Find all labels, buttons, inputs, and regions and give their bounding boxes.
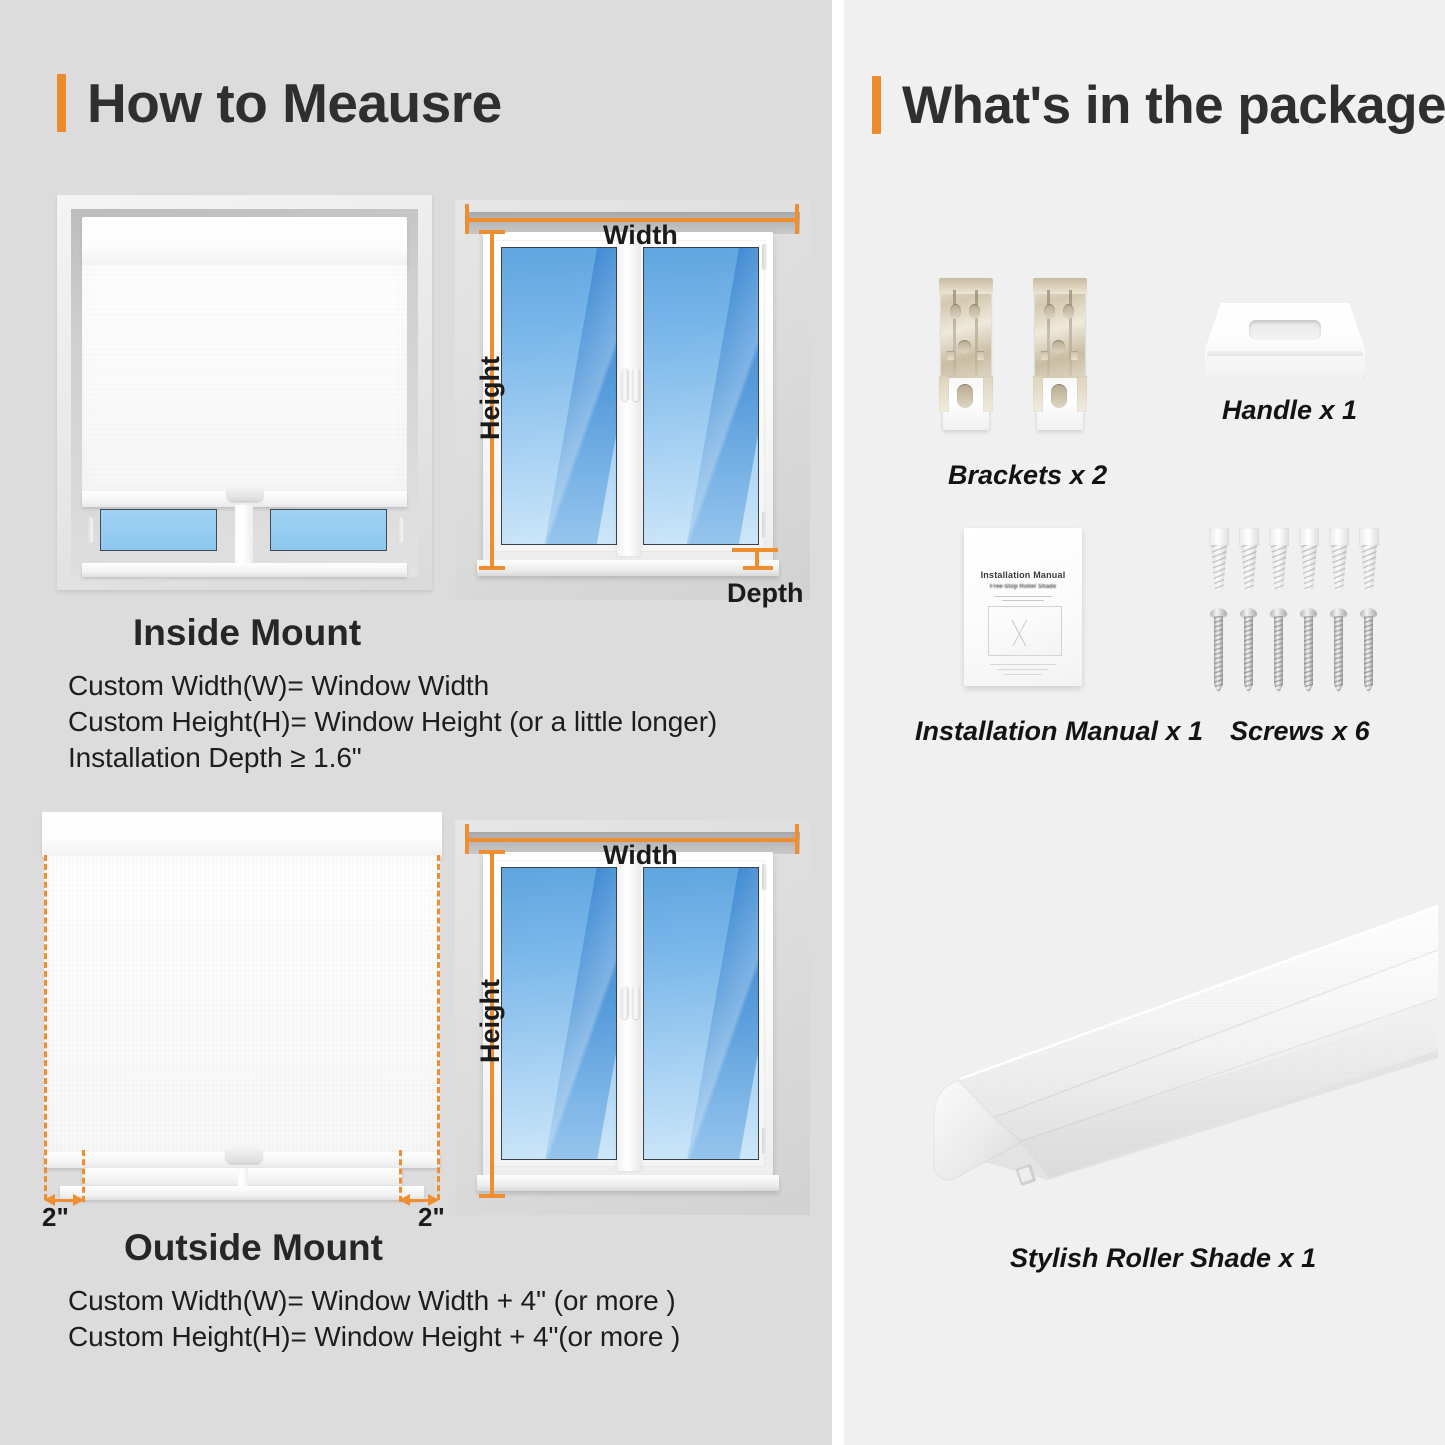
- height-label: Height: [475, 979, 506, 1063]
- bracket-icon: [1031, 278, 1089, 430]
- manual-cover-subtitle: Free-Stop Roller Shade: [964, 584, 1082, 590]
- shade-fabric: [82, 265, 407, 495]
- wall-anchor-icon: [1208, 528, 1230, 590]
- shade-pull-tab-icon: [226, 1149, 262, 1163]
- handle-icon: [1205, 303, 1365, 377]
- shade-fabric: [44, 856, 440, 1156]
- how-to-measure-heading: How to Meausre: [57, 74, 502, 132]
- package-title: What's in the package: [902, 79, 1445, 132]
- manual-label: Installation Manual x 1: [915, 716, 1203, 747]
- accent-bar-icon: [872, 76, 881, 134]
- window-sill: [82, 563, 407, 577]
- inside-mount-line-1: Custom Width(W)= Window Width: [68, 670, 489, 702]
- shade-valance: [82, 217, 407, 266]
- package-heading: What's in the package: [872, 76, 1445, 134]
- overhang-guide-left: [44, 855, 47, 1200]
- accent-bar-icon: [57, 74, 66, 132]
- wall-anchor-icon: [1298, 528, 1320, 590]
- wall-anchor-icon: [1358, 528, 1380, 590]
- roller-shade-icon: [898, 880, 1438, 1220]
- window-pane-right: [643, 247, 759, 545]
- inside-mount-illustration: [57, 195, 432, 590]
- screw-icon: [1240, 608, 1257, 694]
- wall-anchor-icon: [1268, 528, 1290, 590]
- window-pane-left: [501, 867, 617, 1160]
- inside-mount-window-diagram: Width Height: [455, 200, 810, 600]
- screw-icon: [1210, 608, 1227, 694]
- screw-icon: [1360, 608, 1377, 694]
- brackets-label: Brackets x 2: [948, 460, 1107, 491]
- height-label: Height: [475, 356, 506, 440]
- window-glass-left: [100, 509, 217, 551]
- outside-mount-line-1: Custom Width(W)= Window Width + 4" (or m…: [68, 1285, 676, 1317]
- screws-label: Screws x 6: [1230, 716, 1370, 747]
- wall-anchor-icon: [1328, 528, 1350, 590]
- outside-mount-window-diagram: Width Height: [455, 820, 810, 1215]
- how-to-measure-title: How to Meausre: [87, 76, 502, 131]
- depth-label: Depth: [727, 578, 804, 609]
- window-pane-right: [643, 867, 759, 1160]
- inside-mount-line-2: Custom Height(H)= Window Height (or a li…: [68, 706, 717, 738]
- width-label: Width: [603, 840, 678, 871]
- width-label: Width: [603, 220, 678, 251]
- outside-mount-title: Outside Mount: [124, 1227, 383, 1269]
- screw-icon: [1300, 608, 1317, 694]
- screw-icon: [1330, 608, 1347, 694]
- infographic-page: How to Meausre: [0, 0, 1445, 1445]
- screw-icon: [1270, 608, 1287, 694]
- outside-mount-line-2: Custom Height(H)= Window Height + 4"(or …: [68, 1321, 680, 1353]
- roller-shade-label: Stylish Roller Shade x 1: [1010, 1243, 1316, 1274]
- inside-mount-line-3: Installation Depth ≥ 1.6": [68, 742, 362, 774]
- outside-mount-illustration: [42, 812, 442, 1202]
- shade-pull-tab-icon: [227, 488, 263, 501]
- handle-label: Handle x 1: [1222, 395, 1357, 426]
- overhang-label-right: 2": [418, 1202, 445, 1233]
- shade-valance: [42, 812, 442, 857]
- inside-mount-title: Inside Mount: [133, 612, 361, 654]
- manual-icon: Installation Manual Free-Stop Roller Sha…: [964, 528, 1082, 686]
- overhang-label-left: 2": [42, 1202, 69, 1233]
- manual-cover-title: Installation Manual: [964, 570, 1082, 580]
- window-glass-right: [270, 509, 387, 551]
- wall-anchor-icon: [1238, 528, 1260, 590]
- window-pane-left: [501, 247, 617, 545]
- screw-set: [1208, 528, 1384, 698]
- overhang-guide-right: [437, 855, 440, 1200]
- panel-divider: [832, 0, 844, 1445]
- bracket-icon: [937, 278, 995, 430]
